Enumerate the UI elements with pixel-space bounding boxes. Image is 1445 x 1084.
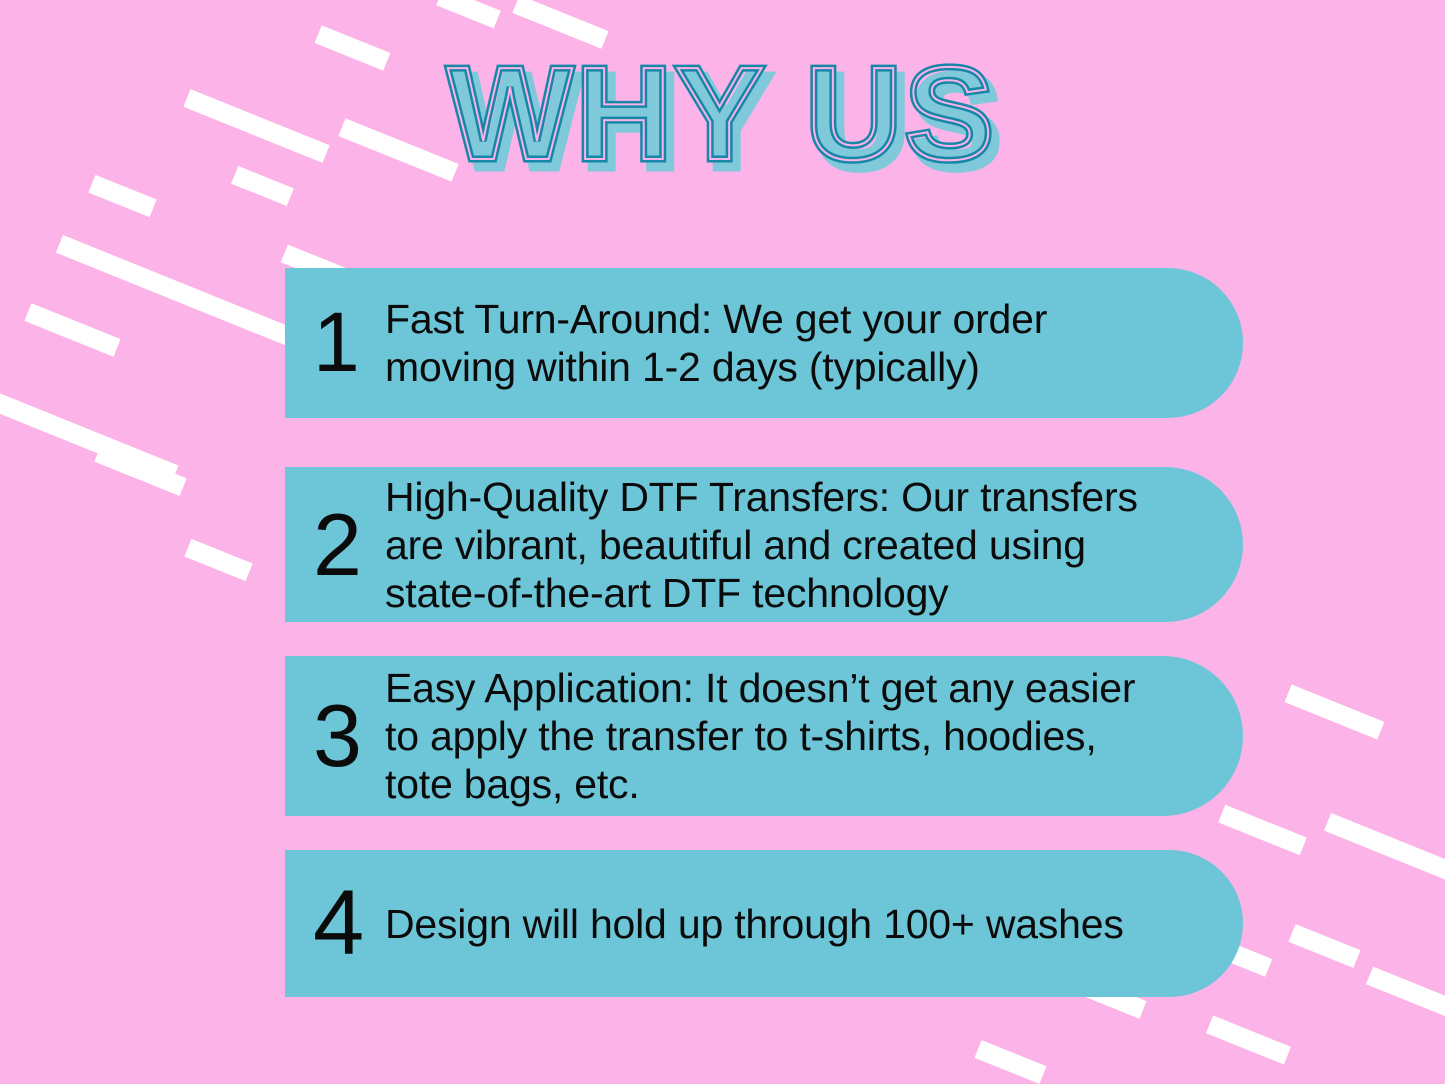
stripe-dash [1365, 967, 1445, 1026]
stripe-dash [1218, 805, 1307, 856]
benefit-card-2-line-3: state-of-the-art DTF technology [385, 569, 1203, 617]
benefit-card-1-line-1: Fast Turn-Around: We get your order [385, 295, 1203, 343]
stripe-dash [1205, 1015, 1290, 1064]
benefit-card-2-line-1: High-Quality DTF Transfers: Our transfer… [385, 473, 1203, 521]
benefit-card-3: 3 Easy Application: It doesn’t get any e… [285, 656, 1243, 816]
page-title: WHY US WHY US WHY US [0, 48, 1445, 188]
benefit-card-4-text: Design will hold up through 100+ washes [385, 900, 1243, 948]
benefit-card-3-text: Easy Application: It doesn’t get any eas… [385, 664, 1243, 808]
stripe-dash [436, 0, 501, 28]
benefit-card-3-line-2: to apply the transfer to t-shirts, hoodi… [385, 712, 1203, 760]
benefit-card-4-line-1: Design will hold up through 100+ washes [385, 900, 1203, 948]
benefit-card-2: 2 High-Quality DTF Transfers: Our transf… [285, 467, 1243, 622]
stripe-dash [1288, 924, 1360, 968]
stripe-dash [24, 303, 120, 357]
stripe-dash [184, 539, 252, 581]
stripe-dash [974, 1040, 1046, 1084]
benefit-card-2-line-2: are vibrant, beautiful and created using [385, 521, 1203, 569]
stripe-dash [94, 444, 186, 496]
benefit-card-1-number: 1 [313, 303, 385, 383]
benefit-card-2-text: High-Quality DTF Transfers: Our transfer… [385, 473, 1243, 617]
benefit-card-2-number: 2 [313, 503, 385, 587]
poster-canvas: WHY US WHY US WHY US 1 Fast Turn-Around:… [0, 0, 1445, 1084]
benefit-card-3-line-1: Easy Application: It doesn’t get any eas… [385, 664, 1203, 712]
page-title-inner-knockout: WHY US [0, 48, 1445, 180]
benefit-card-3-number: 3 [313, 694, 385, 778]
benefit-card-4-number: 4 [313, 880, 385, 967]
benefit-card-1-line-2: moving within 1-2 days (typically) [385, 343, 1203, 391]
stripe-dash [0, 357, 178, 483]
stripe-dash [1324, 813, 1445, 883]
benefit-card-1-text: Fast Turn-Around: We get your order movi… [385, 295, 1243, 391]
benefit-card-4: 4 Design will hold up through 100+ washe… [285, 850, 1243, 997]
benefit-card-3-line-3: tote bags, etc. [385, 760, 1203, 808]
benefit-card-1: 1 Fast Turn-Around: We get your order mo… [285, 268, 1243, 418]
stripe-dash [1284, 684, 1384, 739]
